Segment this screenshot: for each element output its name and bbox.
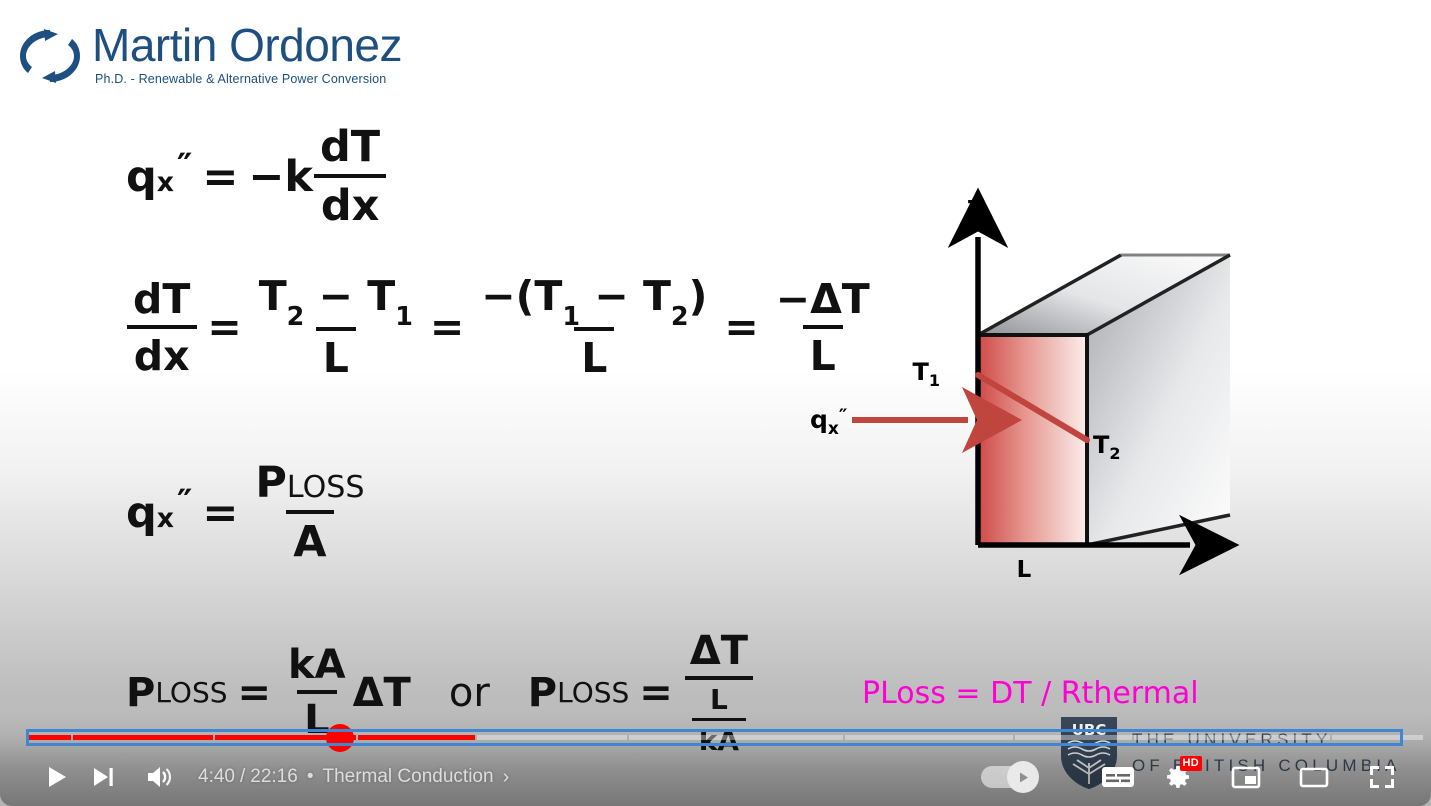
eq4-f1-num: kA [281,642,353,690]
chapter-segment[interactable] [73,735,212,740]
eq4-or: or [411,670,528,716]
fullscreen-button[interactable] [1359,754,1405,800]
label-heat-flux: qx″ [810,405,848,439]
eq2-f3-sub2: 2 [671,301,689,331]
eq3-numerator: PLOSS [248,458,371,510]
chapter-segment[interactable] [477,735,627,740]
eq2-equals-a: = [197,303,251,351]
eq1-denominator: dx [314,174,387,231]
eq2-fraction-1: dT dx [126,275,197,380]
axis-label-temperature: T [968,197,984,223]
eq1-q: q [126,152,157,202]
slab-front-face [978,335,1087,545]
play-icon [44,764,70,790]
autoplay-toggle[interactable] [981,762,1043,792]
axis-label-position: x [1202,533,1217,559]
eq4-p1: P [126,670,155,716]
eq2-f3-sub1: 1 [562,301,580,331]
equation-gradient-chain: dT dx = T2 − T1 L = −(T1 − T2) L = −ΔT L [126,272,877,382]
hd-badge: HD [1180,756,1203,771]
eq3-q: q [126,488,157,538]
chapter-segment[interactable] [1263,735,1330,740]
chapter-segment[interactable] [358,735,475,740]
annotation-text: PLoss = DT / Rthermal [862,676,1199,711]
eq4-p2-sub: LOSS [557,676,629,709]
eq1-minus-k: −k [248,152,313,202]
settings-button[interactable]: HD [1155,754,1201,800]
eq3-denominator: A [286,510,333,567]
chapter-segment[interactable] [845,735,1013,740]
eq2-t1-sub: 1 [395,301,413,331]
label-t1: T1 [912,358,940,390]
equation-flux-power-area: qx″ = PLOSS A [126,458,372,567]
eq1-fraction: dT dx [313,122,387,231]
eq2-f2-num: T2 − T1 [252,272,420,327]
equation-fourier-law: qx″ = −k dT dx [126,122,387,231]
thermal-slab-diagram: T x T1 T2 L qx″ [790,185,1250,595]
eq4-equals-b: = [629,670,683,716]
autoplay-knob [1007,761,1039,793]
eq1-prime: ″ [174,147,192,187]
chapter-segments[interactable] [26,735,1403,740]
eq3-equals: = [192,488,248,538]
label-length: L [1017,557,1032,583]
current-time: 4:40 [198,766,235,788]
eq4-f2-num: ΔT [683,628,755,676]
chevron-right-icon[interactable]: › [503,766,510,789]
volume-icon [145,764,173,790]
miniplayer-icon [1231,764,1261,790]
play-button[interactable] [34,754,80,800]
right-controls: HD [981,754,1431,800]
eq2-f1-den: dx [127,325,197,380]
eq3-p-sub: LOSS [287,470,365,505]
fullscreen-icon [1368,764,1396,790]
theater-icon [1299,764,1329,790]
eq4-p1-sub: LOSS [155,676,227,709]
eq3-prime: ″ [174,483,192,523]
chapter-segment[interactable] [1134,735,1261,740]
eq2-fraction-2: T2 − T1 L [252,272,420,382]
subtitles-icon [1101,764,1135,790]
eq2-t1: T [367,272,395,320]
eq4-delta-t: ΔT [353,670,411,716]
eq2-fraction-3: −(T1 − T2) L [474,272,714,382]
separator-bullet: • [307,766,314,788]
chapter-played [73,735,212,740]
eq3-p: P [255,458,287,508]
eq3-sub: x [157,503,174,534]
eq2-f3-close: ) [689,272,708,320]
eq2-equals-b: = [420,303,474,351]
autoplay-icon [1016,770,1031,785]
eq2-f2-den: L [316,327,356,382]
theater-button[interactable] [1291,754,1337,800]
subtitles-button[interactable] [1095,754,1141,800]
next-track-icon [90,764,116,790]
chapter-segment[interactable] [1332,735,1423,740]
left-controls: 4:40 / 22:16 • Thermal Conduction › [0,754,509,800]
chapter-played [358,735,475,740]
eq2-f3-num: −(T1 − T2) [474,272,714,327]
chapter-title[interactable]: Thermal Conduction [322,766,493,788]
eq1-numerator: dT [313,122,387,174]
eq1-equals: = [192,152,248,202]
control-bar: 4:40 / 22:16 • Thermal Conduction › [0,748,1431,806]
eq2-f3-mid: − T [594,272,671,320]
chapter-segment[interactable] [1015,735,1132,740]
total-time: 22:16 [250,766,298,788]
volume-button[interactable] [136,754,182,800]
eq4-equals-a: = [228,670,282,716]
eq2-f3-open: −(T [481,272,562,320]
time-and-chapter-display[interactable]: 4:40 / 22:16 • Thermal Conduction › [198,766,509,789]
autoplay-track [981,766,1035,788]
eq2-t2-sub: 2 [287,301,305,331]
chapter-segment[interactable] [26,735,71,740]
progress-bar[interactable] [26,732,1403,743]
eq2-f3-den: L [574,327,614,382]
time-separator: / [240,766,245,788]
eq3-fraction: PLOSS A [248,458,371,567]
eq4-p2: P [528,670,557,716]
brand-logo: Martin Ordonez Ph.D. - Renewable & Alter… [14,22,402,87]
eq1-sub: x [157,167,174,198]
brand-name: Martin Ordonez [92,22,402,68]
chapter-played [26,735,71,740]
chapter-segment[interactable] [629,735,842,740]
eq2-t2: T [259,272,287,320]
eq2-equals-c: = [714,303,768,351]
next-button[interactable] [80,754,126,800]
miniplayer-button[interactable] [1223,754,1269,800]
video-player-controls[interactable]: 4:40 / 22:16 • Thermal Conduction › [0,710,1431,806]
eq2-minus: − [319,272,353,320]
eq2-f1-num: dT [126,275,197,325]
brand-tagline: Ph.D. - Renewable & Alternative Power Co… [95,72,402,86]
circular-arrows-icon [14,25,86,87]
video-player-frame[interactable]: Martin Ordonez Ph.D. - Renewable & Alter… [0,0,1431,806]
